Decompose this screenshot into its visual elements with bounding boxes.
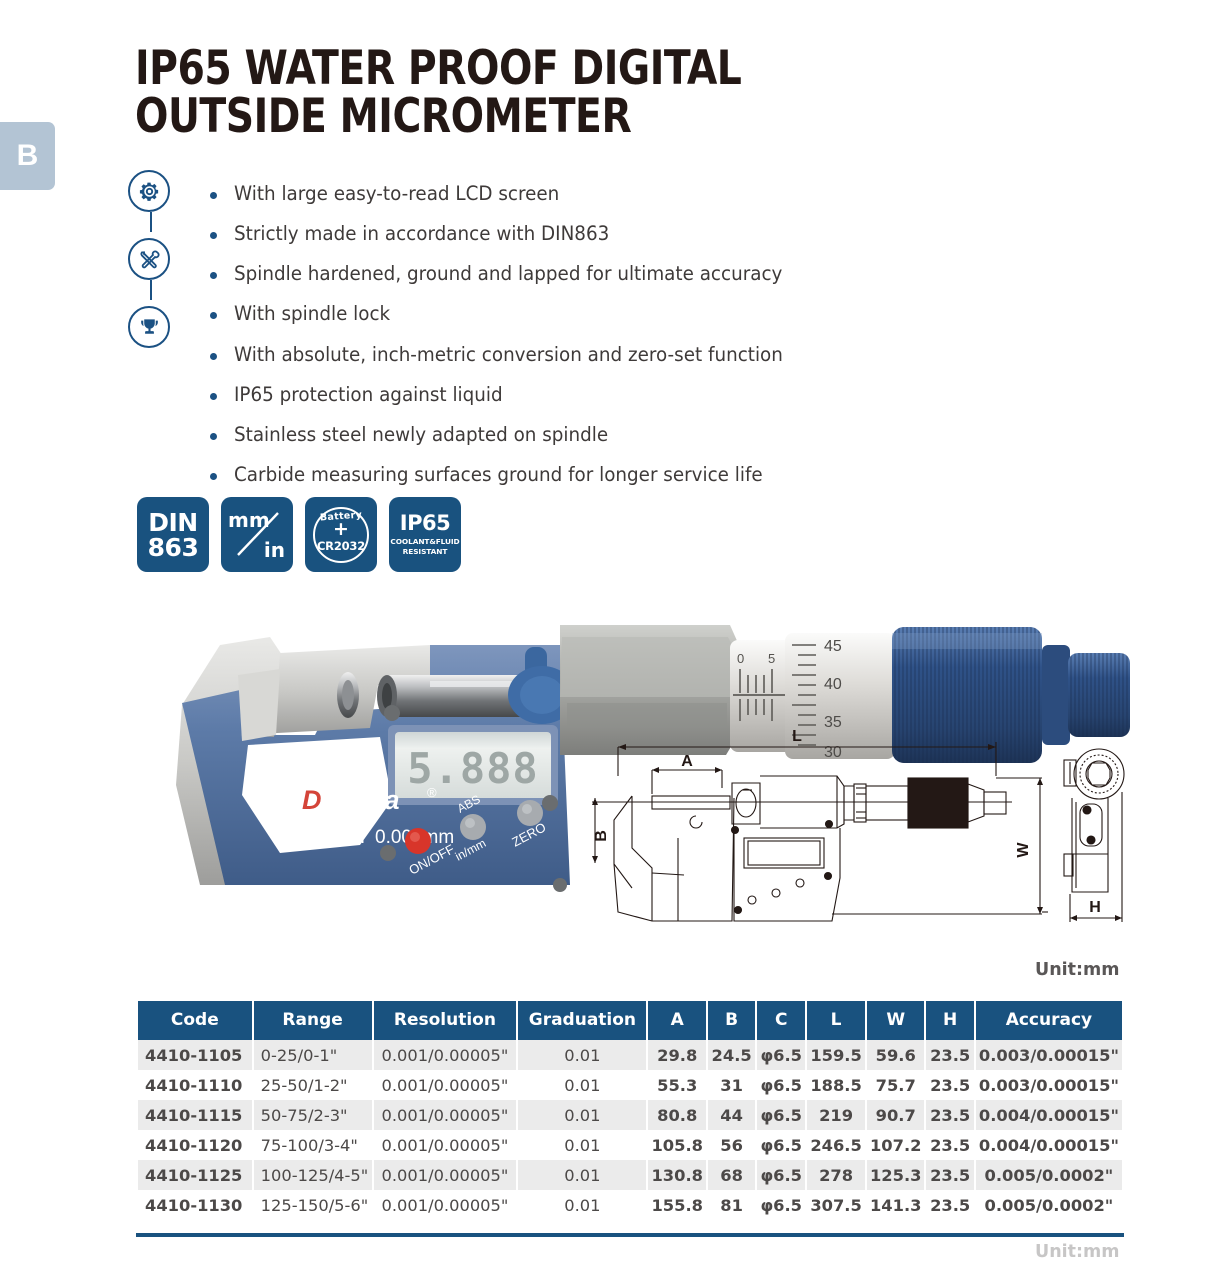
cell-range: 25-50/1-2": [254, 1070, 372, 1100]
cell-a: 80.8: [648, 1100, 706, 1130]
icon-connector-2: [128, 280, 174, 306]
feature-text: With absolute, inch-metric conversion an…: [234, 345, 783, 366]
cell-graduation: 0.01: [518, 1190, 646, 1220]
cell-graduation: 0.01: [518, 1040, 646, 1070]
cell-w: 107.2: [867, 1130, 925, 1160]
cell-code: 4410-1125: [138, 1160, 252, 1190]
certification-badges: DIN 863 mm in Battery + CR2032 IP65 COOL…: [137, 497, 461, 572]
cell-l: 159.5: [807, 1040, 865, 1070]
cell-range: 0-25/0-1": [254, 1040, 372, 1070]
table-row[interactable]: 4410-1125 100-125/4-5" 0.001/0.00005" 0.…: [138, 1160, 1122, 1190]
cell-l: 188.5: [807, 1070, 865, 1100]
feature-item: Spindle hardened, ground and lapped for …: [206, 264, 1008, 285]
column-header-l[interactable]: L: [807, 1001, 865, 1040]
feature-item: With large easy-to-read LCD screen: [206, 184, 1008, 205]
cell-resolution: 0.001/0.00005": [374, 1040, 517, 1070]
sleeve-scale-5: 5: [768, 651, 775, 666]
feature-text: Strictly made in accordance with DIN863: [234, 224, 609, 245]
cell-graduation: 0.01: [518, 1130, 646, 1160]
cell-h: 23.5: [926, 1100, 973, 1130]
dimension-label-B: B: [593, 830, 610, 842]
feature-text: With spindle lock: [234, 304, 390, 325]
dimension-label-A: A: [681, 753, 693, 770]
cell-a: 29.8: [648, 1040, 706, 1070]
cell-accuracy: 0.005/0.0002": [976, 1190, 1122, 1220]
unit-note-bottom: Unit:mm: [1035, 1242, 1120, 1262]
cell-a: 130.8: [648, 1160, 706, 1190]
technical-drawing-front-view: L A B W: [592, 728, 1062, 933]
cell-h: 23.5: [926, 1070, 973, 1100]
cell-c: φ6.5: [757, 1040, 805, 1070]
section-tab-label: B: [17, 141, 39, 171]
cell-range: 75-100/3-4": [254, 1130, 372, 1160]
page-title-line-2: OUTSIDE MICROMETER: [135, 93, 1028, 141]
badge-din-line1: DIN: [148, 510, 197, 535]
cell-l: 246.5: [807, 1130, 865, 1160]
sleeve-scale-0: 0: [737, 651, 744, 666]
page-title-line-1: IP65 WATER PROOF DIGITAL: [135, 45, 1028, 93]
technical-drawing-side-view: H: [1042, 742, 1207, 934]
battery-circle: Battery + CR2032: [313, 507, 369, 563]
unit-note-top: Unit:mm: [1035, 960, 1120, 980]
cell-w: 141.3: [867, 1190, 925, 1220]
page-title: IP65 WATER PROOF DIGITAL OUTSIDE MICROME…: [135, 45, 1095, 141]
cell-code: 4410-1115: [138, 1100, 252, 1130]
table-row[interactable]: 4410-1115 50-75/2-3" 0.001/0.00005" 0.01…: [138, 1100, 1122, 1130]
badge-battery-model: CR2032: [317, 539, 365, 553]
column-header-b[interactable]: B: [708, 1001, 755, 1040]
cell-w: 75.7: [867, 1070, 925, 1100]
cell-b: 56: [708, 1130, 755, 1160]
table-header-row: Code Range Resolution Graduation A B C L…: [138, 1001, 1122, 1040]
feature-icon-column: [128, 170, 174, 348]
gear-icon: [128, 170, 170, 212]
thimble-scale-45: 45: [824, 638, 842, 655]
badge-battery-arc: Battery: [315, 509, 368, 524]
cell-code: 4410-1130: [138, 1190, 252, 1220]
photo-ip65-label: IP65: [288, 755, 327, 776]
column-header-graduation[interactable]: Graduation: [518, 1001, 646, 1040]
cell-a: 55.3: [648, 1070, 706, 1100]
cell-a: 155.8: [648, 1190, 706, 1220]
feature-text: Spindle hardened, ground and lapped for …: [234, 264, 782, 285]
dimension-label-L: L: [792, 728, 802, 745]
table-row[interactable]: 4410-1105 0-25/0-1" 0.001/0.00005" 0.01 …: [138, 1040, 1122, 1070]
cell-graduation: 0.01: [518, 1160, 646, 1190]
cell-l: 219: [807, 1100, 865, 1130]
feature-item: Carbide measuring surfaces ground for lo…: [206, 465, 1008, 486]
cell-resolution: 0.001/0.00005": [374, 1130, 517, 1160]
cell-range: 100-125/4-5": [254, 1160, 372, 1190]
cell-b: 81: [708, 1190, 755, 1220]
cell-code: 4410-1110: [138, 1070, 252, 1100]
cell-resolution: 0.001/0.00005": [374, 1190, 517, 1220]
photo-brand-accent: D: [302, 785, 322, 815]
badge-in-label: in: [264, 538, 285, 562]
cell-resolution: 0.001/0.00005": [374, 1100, 517, 1130]
cell-accuracy: 0.005/0.0002": [976, 1160, 1122, 1190]
dimension-label-H: H: [1089, 899, 1101, 916]
cell-h: 23.5: [926, 1040, 973, 1070]
thimble-scale-40: 40: [824, 676, 842, 693]
cell-graduation: 0.01: [518, 1070, 646, 1100]
badge-ip65: IP65 COOLANT&FLUID RESISTANT: [389, 497, 461, 572]
cell-w: 59.6: [867, 1040, 925, 1070]
cell-b: 24.5: [708, 1040, 755, 1070]
icon-connector-1: [128, 212, 174, 238]
feature-text: Stainless steel newly adapted on spindle: [234, 425, 608, 446]
table-row[interactable]: 4410-1110 25-50/1-2" 0.001/0.00005" 0.01…: [138, 1070, 1122, 1100]
table-row[interactable]: 4410-1130 125-150/5-6" 0.001/0.00005" 0.…: [138, 1190, 1122, 1220]
cell-code: 4410-1105: [138, 1040, 252, 1070]
feature-item: Stainless steel newly adapted on spindle: [206, 425, 1008, 446]
column-header-w[interactable]: W: [867, 1001, 925, 1040]
feature-text: With large easy-to-read LCD screen: [234, 184, 559, 205]
cell-c: φ6.5: [757, 1100, 805, 1130]
cell-l: 278: [807, 1160, 865, 1190]
cell-c: φ6.5: [757, 1160, 805, 1190]
cell-b: 44: [708, 1100, 755, 1130]
feature-item: Strictly made in accordance with DIN863: [206, 224, 1008, 245]
cell-h: 23.5: [926, 1190, 973, 1220]
table-bottom-rule: [136, 1233, 1124, 1237]
table-row[interactable]: 4410-1120 75-100/3-4" 0.001/0.00005" 0.0…: [138, 1130, 1122, 1160]
cell-h: 23.5: [926, 1160, 973, 1190]
cell-range: 125-150/5-6": [254, 1190, 372, 1220]
badge-battery-cr2032: Battery + CR2032: [305, 497, 377, 572]
trophy-icon: [128, 306, 170, 348]
badge-ip65-line2: COOLANT&FLUID: [390, 537, 459, 547]
cell-resolution: 0.001/0.00005": [374, 1160, 517, 1190]
photo-brand-registered: ®: [427, 785, 437, 800]
cell-l: 307.5: [807, 1190, 865, 1220]
badge-ip65-line3: RESISTANT: [403, 547, 448, 557]
cell-code: 4410-1120: [138, 1130, 252, 1160]
badge-din-line2: 863: [148, 535, 199, 560]
cell-w: 125.3: [867, 1160, 925, 1190]
cell-h: 23.5: [926, 1130, 973, 1160]
column-header-accuracy[interactable]: Accuracy: [976, 1001, 1122, 1040]
feature-list: With large easy-to-read LCD screen Stric…: [206, 184, 1008, 486]
cell-range: 50-75/2-3": [254, 1100, 372, 1130]
photo-range-label: 0-25mm: [295, 827, 365, 848]
feature-section: With large easy-to-read LCD screen Stric…: [128, 168, 1008, 505]
cell-accuracy: 0.004/0.00015": [976, 1130, 1122, 1160]
cell-w: 90.7: [867, 1100, 925, 1130]
badge-din863: DIN 863: [137, 497, 209, 572]
cell-b: 68: [708, 1160, 755, 1190]
cell-c: φ6.5: [757, 1070, 805, 1100]
cell-accuracy: 0.003/0.00015": [976, 1040, 1122, 1070]
feature-item: With absolute, inch-metric conversion an…: [206, 345, 1008, 366]
column-header-code[interactable]: Code: [138, 1001, 252, 1040]
cell-resolution: 0.001/0.00005": [374, 1070, 517, 1100]
feature-text: Carbide measuring surfaces ground for lo…: [234, 465, 763, 486]
tools-icon: [128, 238, 170, 280]
badge-ip65-label: IP65: [400, 512, 450, 534]
section-tab[interactable]: B: [0, 122, 55, 190]
cell-c: φ6.5: [757, 1190, 805, 1220]
cell-a: 105.8: [648, 1130, 706, 1160]
cell-graduation: 0.01: [518, 1100, 646, 1130]
column-header-h[interactable]: H: [926, 1001, 973, 1040]
feature-item: With spindle lock: [206, 304, 1008, 325]
column-header-c[interactable]: C: [757, 1001, 805, 1040]
column-header-a[interactable]: A: [648, 1001, 706, 1040]
cell-accuracy: 0.004/0.00015": [976, 1100, 1122, 1130]
badge-battery-plus: +: [333, 520, 349, 539]
column-header-resolution[interactable]: Resolution: [374, 1001, 517, 1040]
feature-text: IP65 protection against liquid: [234, 385, 503, 406]
cell-accuracy: 0.003/0.00015": [976, 1070, 1122, 1100]
cell-b: 31: [708, 1070, 755, 1100]
dimension-label-W: W: [1015, 842, 1032, 858]
cell-c: φ6.5: [757, 1130, 805, 1160]
specification-table: Code Range Resolution Graduation A B C L…: [136, 1001, 1124, 1220]
anvil: [337, 672, 359, 718]
column-header-range[interactable]: Range: [254, 1001, 372, 1040]
feature-item: IP65 protection against liquid: [206, 385, 1008, 406]
badge-mm-in: mm in: [221, 497, 293, 572]
